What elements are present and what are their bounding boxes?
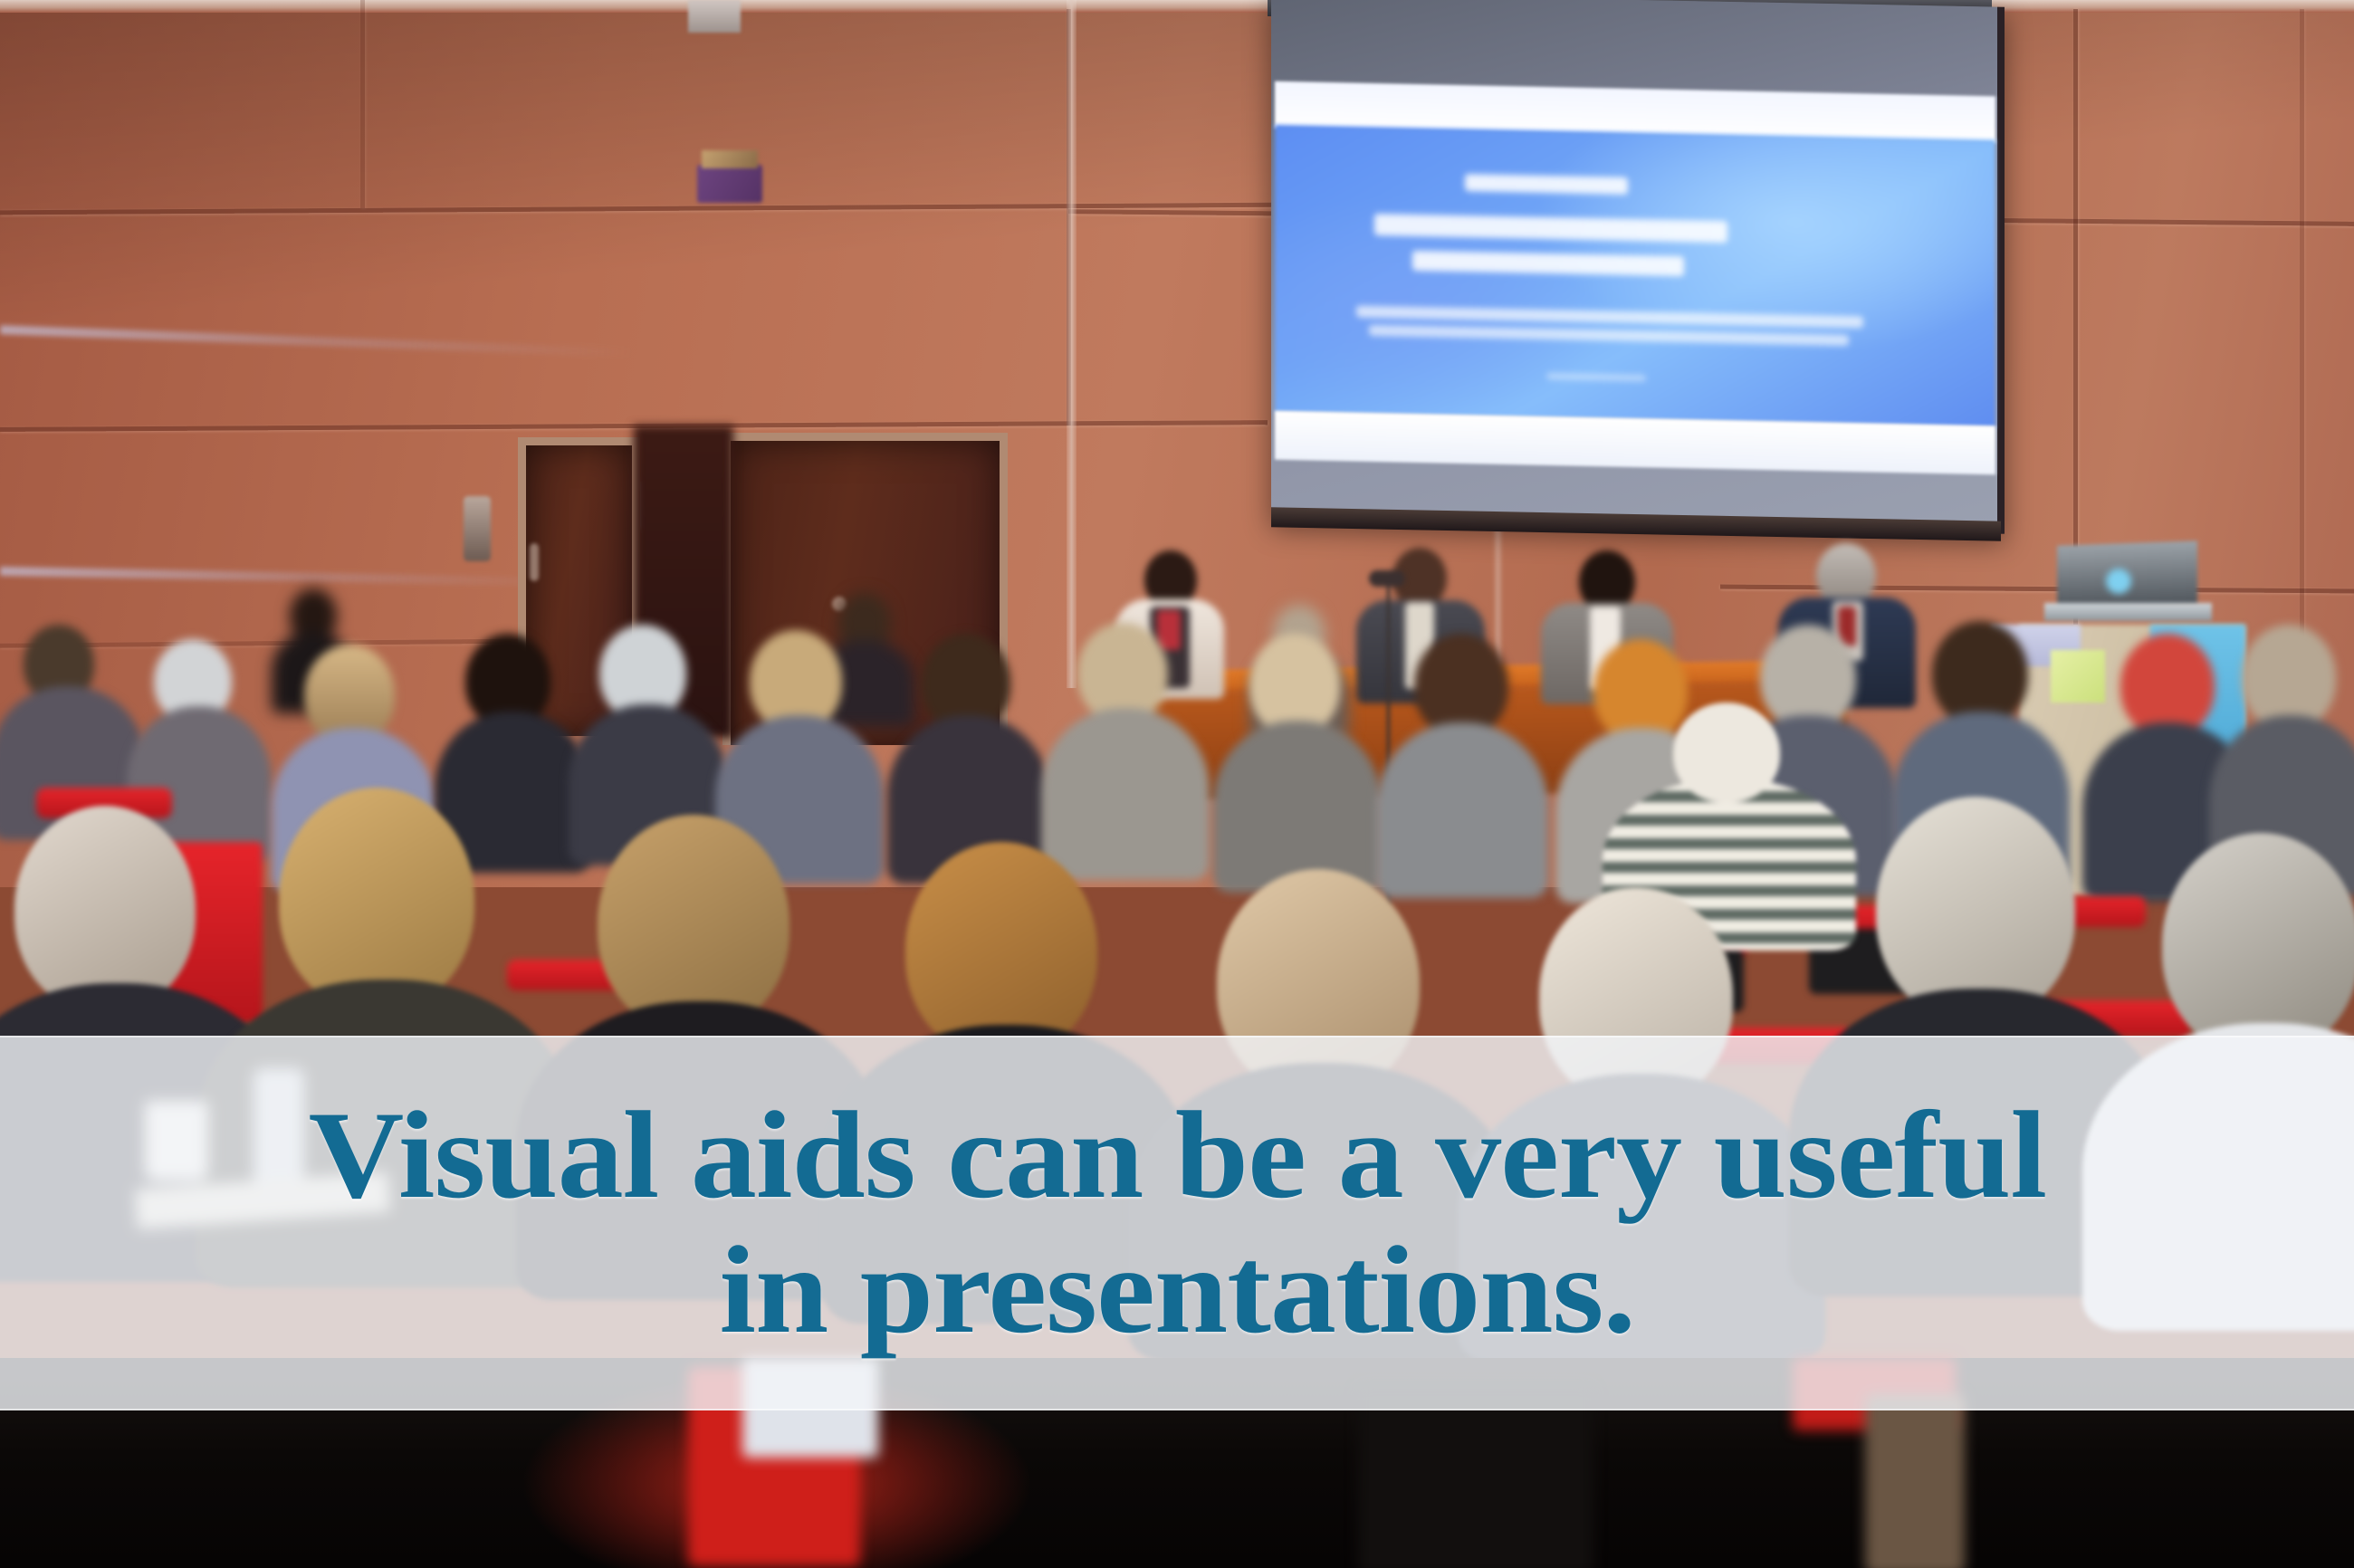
audience-member <box>1041 623 1204 863</box>
microphone-icon <box>1369 570 1405 587</box>
slide-heading-line <box>1412 251 1684 276</box>
slide-body-line <box>1356 306 1863 329</box>
ceiling-vent <box>688 0 741 33</box>
slide-title-line <box>1465 174 1628 195</box>
caption-overlay-band: Visual aids can be a very useful in pres… <box>0 1036 2354 1410</box>
audience-member <box>1213 634 1376 874</box>
wall-seam <box>360 0 365 208</box>
wall-seam <box>2073 9 2078 625</box>
laptop-logo-icon <box>2106 569 2131 594</box>
caption-line-1: Visual aids can be a very useful <box>308 1092 2045 1219</box>
support-pole <box>1067 0 1077 688</box>
person-silhouette <box>1358 1385 1593 1568</box>
projection-screen-slide <box>1275 125 1995 428</box>
slide-body-line <box>1546 373 1646 381</box>
audience-member <box>887 634 1046 869</box>
wall-sign <box>697 165 762 203</box>
door-handle-icon <box>530 543 539 581</box>
banner-image: Visual aids can be a very useful in pres… <box>0 0 2354 1568</box>
slide-body-line <box>1369 325 1849 346</box>
audience-member <box>1376 634 1544 878</box>
wall-intercom <box>464 496 491 561</box>
laptop-base <box>2044 603 2212 621</box>
wall-sign-header <box>702 150 758 168</box>
person-silhouette <box>1865 1394 1965 1568</box>
caption-line-2: in presentations. <box>719 1227 1635 1354</box>
slide-heading-line <box>1374 214 1727 243</box>
